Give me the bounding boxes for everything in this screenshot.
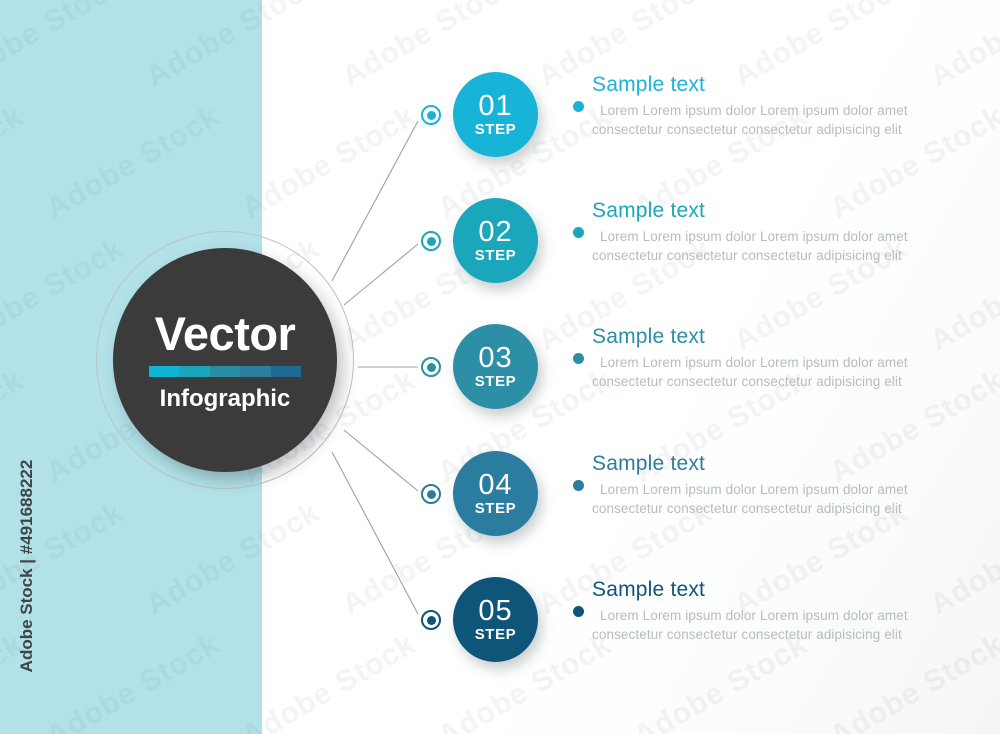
step-marker-center-dot: [427, 237, 436, 246]
step-body-line-1: Lorem Lorem ipsum dolor Lorem ipsum dolo…: [592, 101, 908, 120]
step-body-line-2: consectetur consectetur consectetur adip…: [592, 372, 908, 391]
hub-circle: Vector Infographic: [113, 248, 337, 472]
step-circle-01[interactable]: 01STEP: [453, 72, 538, 157]
step-marker-center-dot: [427, 616, 436, 625]
hub-bar-segment-4: [240, 366, 270, 377]
step-word-label: STEP: [475, 248, 517, 263]
step-bullet-dot-icon: [573, 480, 584, 491]
step-body-line-1: Lorem Lorem ipsum dolor Lorem ipsum dolo…: [592, 480, 908, 499]
step-bullet-dot-icon: [573, 606, 584, 617]
step-number: 02: [478, 218, 512, 247]
step-circle-04[interactable]: 04STEP: [453, 451, 538, 536]
step-heading: Sample text: [592, 74, 908, 95]
step-marker-ring-icon[interactable]: [421, 105, 441, 125]
step-number: 03: [478, 344, 512, 373]
step-marker-ring-icon[interactable]: [421, 610, 441, 630]
step-body-line-2: consectetur consectetur consectetur adip…: [592, 499, 908, 518]
step-marker-center-dot: [427, 490, 436, 499]
step-marker-ring-icon[interactable]: [421, 231, 441, 251]
step-body-line-2: consectetur consectetur consectetur adip…: [592, 625, 908, 644]
hub-bar-segment-1: [149, 366, 179, 377]
step-heading: Sample text: [592, 200, 908, 221]
hub-bar-segment-5: [271, 366, 301, 377]
step-body-line-1: Lorem Lorem ipsum dolor Lorem ipsum dolo…: [592, 227, 908, 246]
hub-title: Vector: [155, 310, 296, 357]
step-text-block: Sample textLorem Lorem ipsum dolor Lorem…: [592, 200, 908, 265]
step-text-block: Sample textLorem Lorem ipsum dolor Lorem…: [592, 579, 908, 644]
step-body-line-2: consectetur consectetur consectetur adip…: [592, 120, 908, 139]
step-number: 04: [478, 471, 512, 500]
infographic-canvas: Adobe StockAdobe StockAdobe StockAdobe S…: [0, 0, 1000, 734]
step-heading: Sample text: [592, 453, 908, 474]
step-text-block: Sample textLorem Lorem ipsum dolor Lorem…: [592, 453, 908, 518]
step-body-line-1: Lorem Lorem ipsum dolor Lorem ipsum dolo…: [592, 606, 908, 625]
step-circle-03[interactable]: 03STEP: [453, 324, 538, 409]
step-heading: Sample text: [592, 326, 908, 347]
step-word-label: STEP: [475, 627, 517, 642]
hub-subtitle: Infographic: [160, 387, 291, 411]
step-bullet-dot-icon: [573, 353, 584, 364]
step-marker-center-dot: [427, 363, 436, 372]
step-bullet-dot-icon: [573, 101, 584, 112]
step-bullet-dot-icon: [573, 227, 584, 238]
step-marker-center-dot: [427, 111, 436, 120]
step-word-label: STEP: [475, 122, 517, 137]
step-heading: Sample text: [592, 579, 908, 600]
step-circle-02[interactable]: 02STEP: [453, 198, 538, 283]
hub-bar-segment-2: [179, 366, 209, 377]
hub-bar-segment-3: [210, 366, 240, 377]
step-circle-05[interactable]: 05STEP: [453, 577, 538, 662]
step-number: 05: [478, 597, 512, 626]
step-text-block: Sample textLorem Lorem ipsum dolor Lorem…: [592, 74, 908, 139]
step-marker-ring-icon[interactable]: [421, 484, 441, 504]
step-word-label: STEP: [475, 374, 517, 389]
step-body-line-2: consectetur consectetur consectetur adip…: [592, 246, 908, 265]
step-body-line-1: Lorem Lorem ipsum dolor Lorem ipsum dolo…: [592, 353, 908, 372]
step-word-label: STEP: [475, 501, 517, 516]
step-text-block: Sample textLorem Lorem ipsum dolor Lorem…: [592, 326, 908, 391]
step-marker-ring-icon[interactable]: [421, 357, 441, 377]
step-number: 01: [478, 92, 512, 121]
hub-gradient-bar: [149, 366, 301, 377]
